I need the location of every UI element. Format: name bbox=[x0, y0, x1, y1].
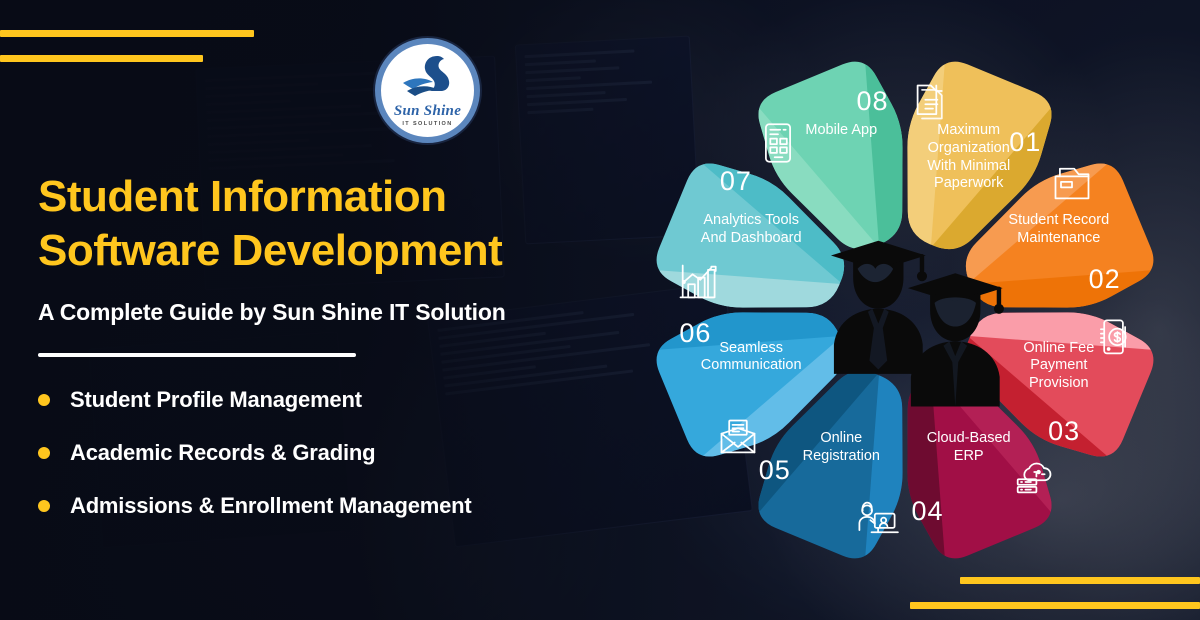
page-title: Student Information Software Development bbox=[38, 170, 638, 277]
wheel-svg bbox=[620, 30, 1190, 590]
logo-subtitle: IT SOLUTION bbox=[402, 121, 452, 127]
page-title-line2: Software Development bbox=[38, 224, 638, 278]
page-subtitle: A Complete Guide by Sun Shine IT Solutio… bbox=[38, 299, 638, 326]
bullet-dot-icon bbox=[38, 447, 50, 459]
bar-chart-icon bbox=[675, 260, 719, 304]
cloud-server-icon bbox=[1010, 455, 1054, 499]
swan-logo-icon bbox=[397, 53, 459, 103]
bullet-dot-icon bbox=[38, 394, 50, 406]
decorative-bar-bottom-right-2 bbox=[910, 602, 1200, 609]
document-icon bbox=[911, 80, 955, 124]
list-item: Academic Records & Grading bbox=[38, 440, 638, 466]
envelope-icon bbox=[716, 415, 760, 459]
person-computer-icon bbox=[855, 496, 899, 540]
logo-name: Sun Shine bbox=[394, 104, 461, 119]
page-title-line1: Student Information bbox=[38, 170, 638, 224]
bullet-label: Academic Records & Grading bbox=[70, 440, 375, 466]
file-folder-icon bbox=[1050, 161, 1094, 205]
bullet-label: Admissions & Enrollment Management bbox=[70, 493, 472, 519]
list-item: Admissions & Enrollment Management bbox=[38, 493, 638, 519]
decorative-bar-top-left-2 bbox=[0, 55, 203, 62]
decorative-bar-top-left-1 bbox=[0, 30, 254, 37]
bullet-dot-icon bbox=[38, 500, 50, 512]
mobile-payment-icon bbox=[1091, 316, 1135, 360]
hero-text-block: Student Information Software Development… bbox=[38, 170, 638, 546]
bullet-label: Student Profile Management bbox=[70, 387, 362, 413]
feature-wheel-diagram: Maximum Organization With Minimal Paperw… bbox=[620, 30, 1190, 590]
smartphone-icon bbox=[756, 121, 800, 165]
wheel-segments bbox=[650, 55, 1160, 565]
feature-bullet-list: Student Profile Management Academic Reco… bbox=[38, 387, 638, 519]
company-logo: Sun Shine IT SOLUTION bbox=[375, 38, 480, 143]
list-item: Student Profile Management bbox=[38, 387, 638, 413]
title-divider bbox=[38, 353, 356, 357]
